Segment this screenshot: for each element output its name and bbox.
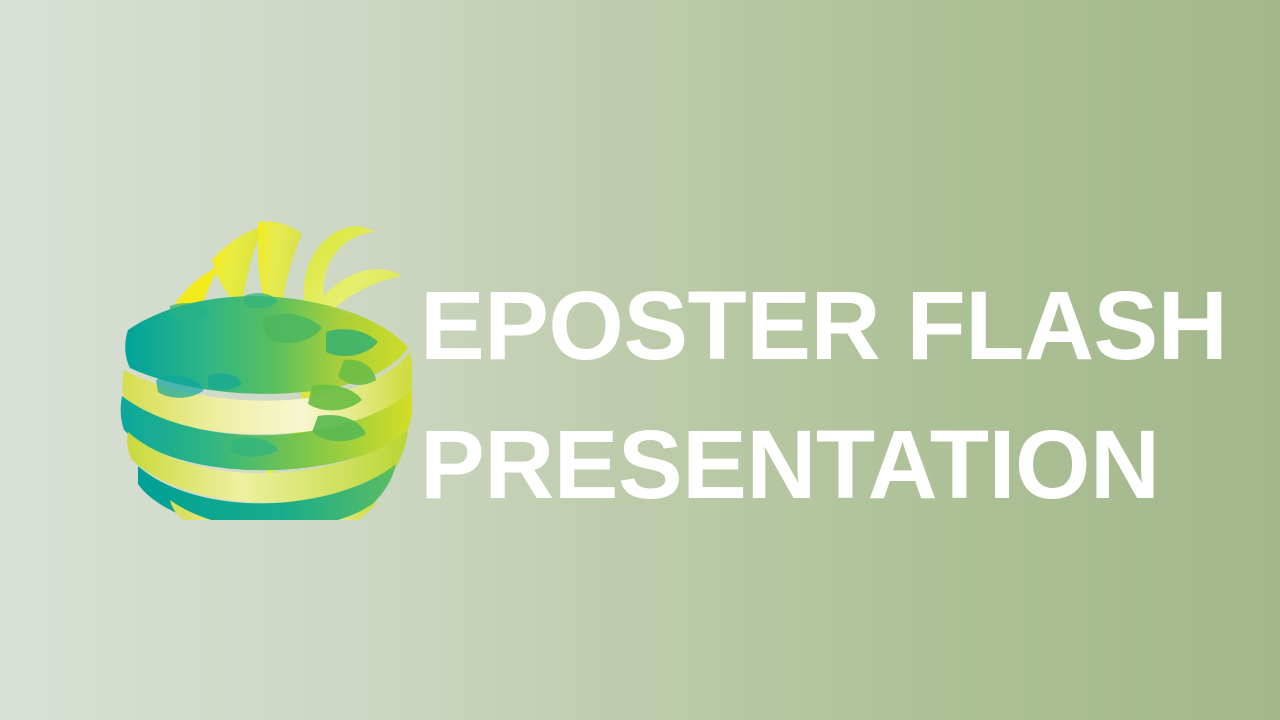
presentation-slide: EPOSTER FLASH PRESENTATION	[0, 0, 1280, 720]
globe-ribbon-logo	[112, 200, 412, 520]
title-line-2: PRESENTATION	[420, 395, 1220, 534]
slide-title: EPOSTER FLASH PRESENTATION	[420, 256, 1220, 534]
title-line-1: EPOSTER FLASH	[420, 256, 1220, 395]
